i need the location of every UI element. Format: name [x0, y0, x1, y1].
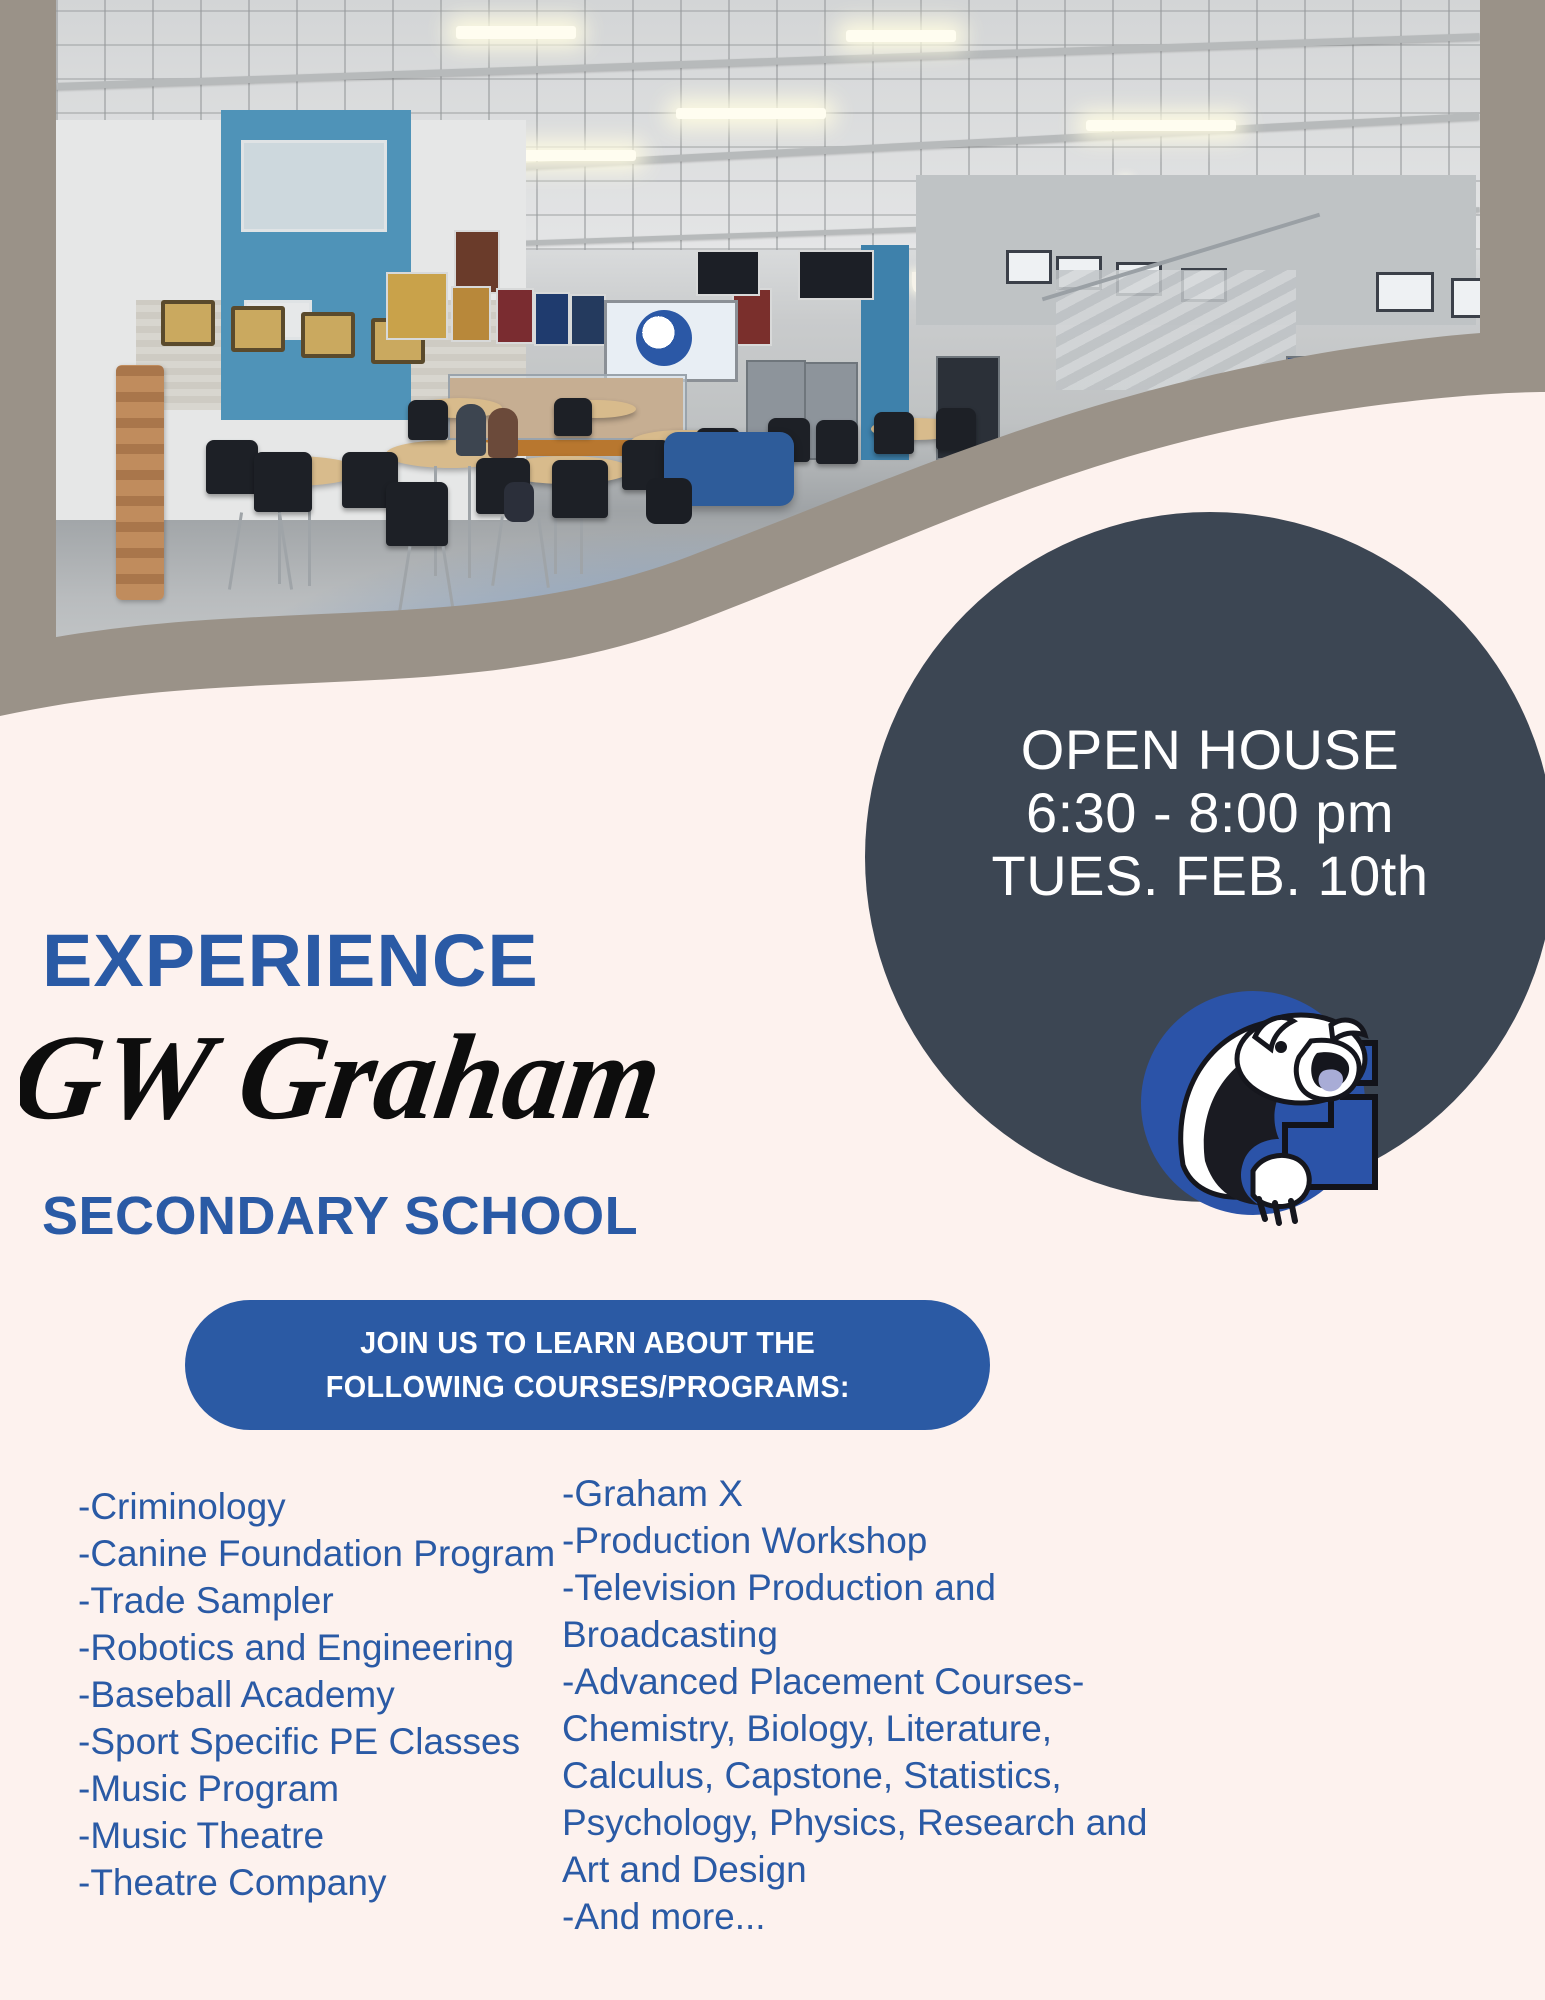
- course-item: -Baseball Academy: [78, 1671, 598, 1718]
- course-list-right: -Graham X -Production Workshop -Televisi…: [562, 1470, 1202, 1940]
- page-title-experience: EXPERIENCE: [42, 918, 539, 1003]
- open-house-details: OPEN HOUSE 6:30 - 8:00 pm TUES. FEB. 10t…: [880, 718, 1540, 907]
- course-item: -And more...: [562, 1893, 1202, 1940]
- script-school-name: GW Graham: [20, 1000, 700, 1160]
- banner-line-1: JOIN US TO LEARN ABOUT THE: [360, 1321, 815, 1365]
- course-item: -Music Program: [78, 1765, 598, 1812]
- course-list-left: -Criminology -Canine Foundation Program …: [78, 1483, 598, 1906]
- course-item: -Music Theatre: [78, 1812, 598, 1859]
- bear-eye: [1275, 1041, 1287, 1053]
- course-item: -Canine Foundation Program: [78, 1530, 598, 1577]
- course-item: -Sport Specific PE Classes: [78, 1718, 598, 1765]
- course-item: -Television Production and Broadcasting: [562, 1564, 1202, 1658]
- course-item: -Robotics and Engineering: [78, 1624, 598, 1671]
- script-school-name-text: GW Graham: [20, 1010, 670, 1145]
- course-item: -Criminology: [78, 1483, 598, 1530]
- course-item: -Theatre Company: [78, 1859, 598, 1906]
- open-house-title: OPEN HOUSE: [880, 718, 1540, 781]
- course-item: -Advanced Placement Courses- Chemistry, …: [562, 1658, 1202, 1893]
- page-subtitle-secondary-school: SECONDARY SCHOOL: [42, 1185, 638, 1247]
- course-item: -Production Workshop: [562, 1517, 1202, 1564]
- join-us-banner: JOIN US TO LEARN ABOUT THE FOLLOWING COU…: [185, 1300, 990, 1430]
- course-item: -Trade Sampler: [78, 1577, 598, 1624]
- gw-graham-bear-logo: [1135, 975, 1405, 1245]
- course-item: -Graham X: [562, 1470, 1202, 1517]
- open-house-time: 6:30 - 8:00 pm: [880, 781, 1540, 844]
- open-house-date: TUES. FEB. 10th: [880, 844, 1540, 907]
- banner-line-2: FOLLOWING COURSES/PROGRAMS:: [325, 1365, 849, 1409]
